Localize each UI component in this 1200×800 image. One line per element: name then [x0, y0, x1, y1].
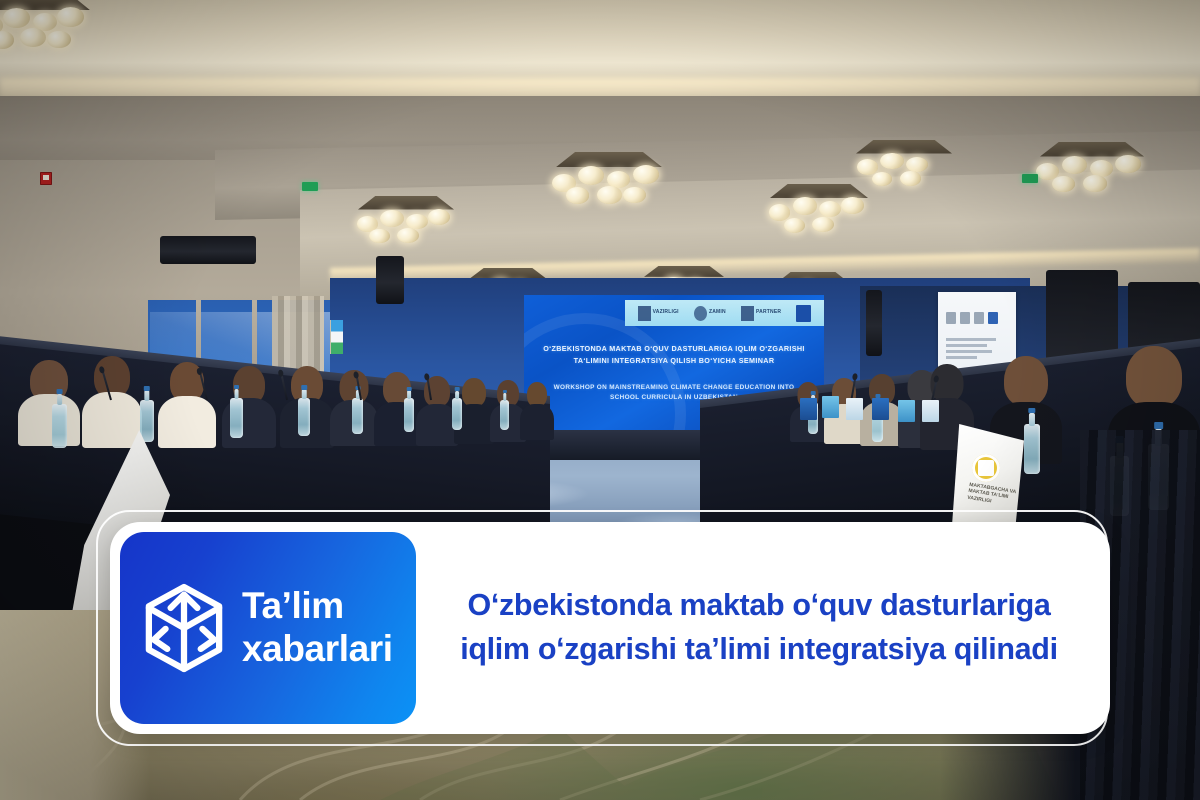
headline-block: Oʻzbekistonda maktab oʻquv dasturlariga …: [416, 522, 1110, 734]
zamin-logo-label: ZAMIN: [709, 310, 726, 316]
ministry-logo-label: VAZIRLIGI: [653, 310, 679, 316]
screen-title-uz: OʻZBEKISTONDA MAKTAB OʻQUV DASTURLARIGA …: [524, 343, 824, 366]
uzbekistan-flag: [330, 320, 343, 354]
brand-name-line2: xabarlari: [242, 628, 393, 671]
speaker-column: [376, 256, 404, 304]
speaker-column: [866, 290, 882, 356]
water-bottle: [452, 398, 462, 430]
exit-sign-icon: [1022, 174, 1038, 183]
attendee: [82, 356, 142, 448]
headline-line-1: Oʻzbekistonda maktab oʻquv dasturlariga: [468, 584, 1051, 628]
unicef-logo-icon: [796, 305, 811, 322]
brand-block[interactable]: Ta’lim xabarlari: [120, 532, 416, 724]
screen-logo-bar: VAZIRLIGI ZAMIN PARTNER: [625, 300, 824, 326]
water-bottle: [140, 400, 154, 442]
desk-flag: [922, 400, 939, 422]
water-bottle: [500, 400, 509, 430]
partner-logo-icon: PARTNER: [741, 305, 781, 322]
water-bottle: [1024, 424, 1040, 474]
attendee: [158, 362, 216, 448]
water-bottle: [352, 398, 363, 434]
attendee: [520, 382, 554, 440]
ministry-emblem-icon: VAZIRLIGI: [638, 305, 679, 322]
screenshot-root: VAZIRLIGI ZAMIN PARTNER OʻZBEKISTONDA MA…: [0, 0, 1200, 800]
zamin-logo-icon: ZAMIN: [694, 305, 726, 322]
partner-logo-label: PARTNER: [756, 310, 781, 316]
emblem-icon: [972, 454, 1000, 482]
chandelier-icon: [0, 0, 90, 56]
chandelier-icon: [1040, 142, 1144, 198]
chandelier-icon: [556, 152, 662, 210]
attendee: [18, 360, 80, 446]
desk-flag-label: MAKTABGACHA VA MAKTAB TAʻLIMI VAZIRLIGI: [967, 482, 1023, 509]
water-bottle: [52, 404, 67, 448]
chandelier-icon: [856, 140, 952, 192]
fire-alarm-icon: [40, 172, 52, 185]
water-bottle: [298, 398, 310, 436]
desk-flag: [822, 396, 839, 418]
water-bottle: [230, 398, 243, 438]
desk-flag: [898, 400, 915, 422]
cube-arrows-logo-icon: [142, 582, 226, 674]
desk-flag: [800, 398, 817, 420]
headline-line-2: iqlim oʻzgarishi ta’limi integratsiya qi…: [460, 628, 1057, 672]
desk-flag: [872, 398, 889, 420]
speaker-column: [160, 236, 256, 264]
brand-name: Ta’lim xabarlari: [242, 585, 393, 671]
brand-name-line1: Ta’lim: [242, 585, 393, 628]
desk-flag: [846, 398, 863, 420]
chandelier-icon: [358, 196, 454, 248]
exit-sign-icon: [302, 182, 318, 191]
news-card[interactable]: Ta’lim xabarlari Oʻzbekistonda maktab oʻ…: [110, 522, 1110, 734]
water-bottle: [404, 398, 414, 432]
